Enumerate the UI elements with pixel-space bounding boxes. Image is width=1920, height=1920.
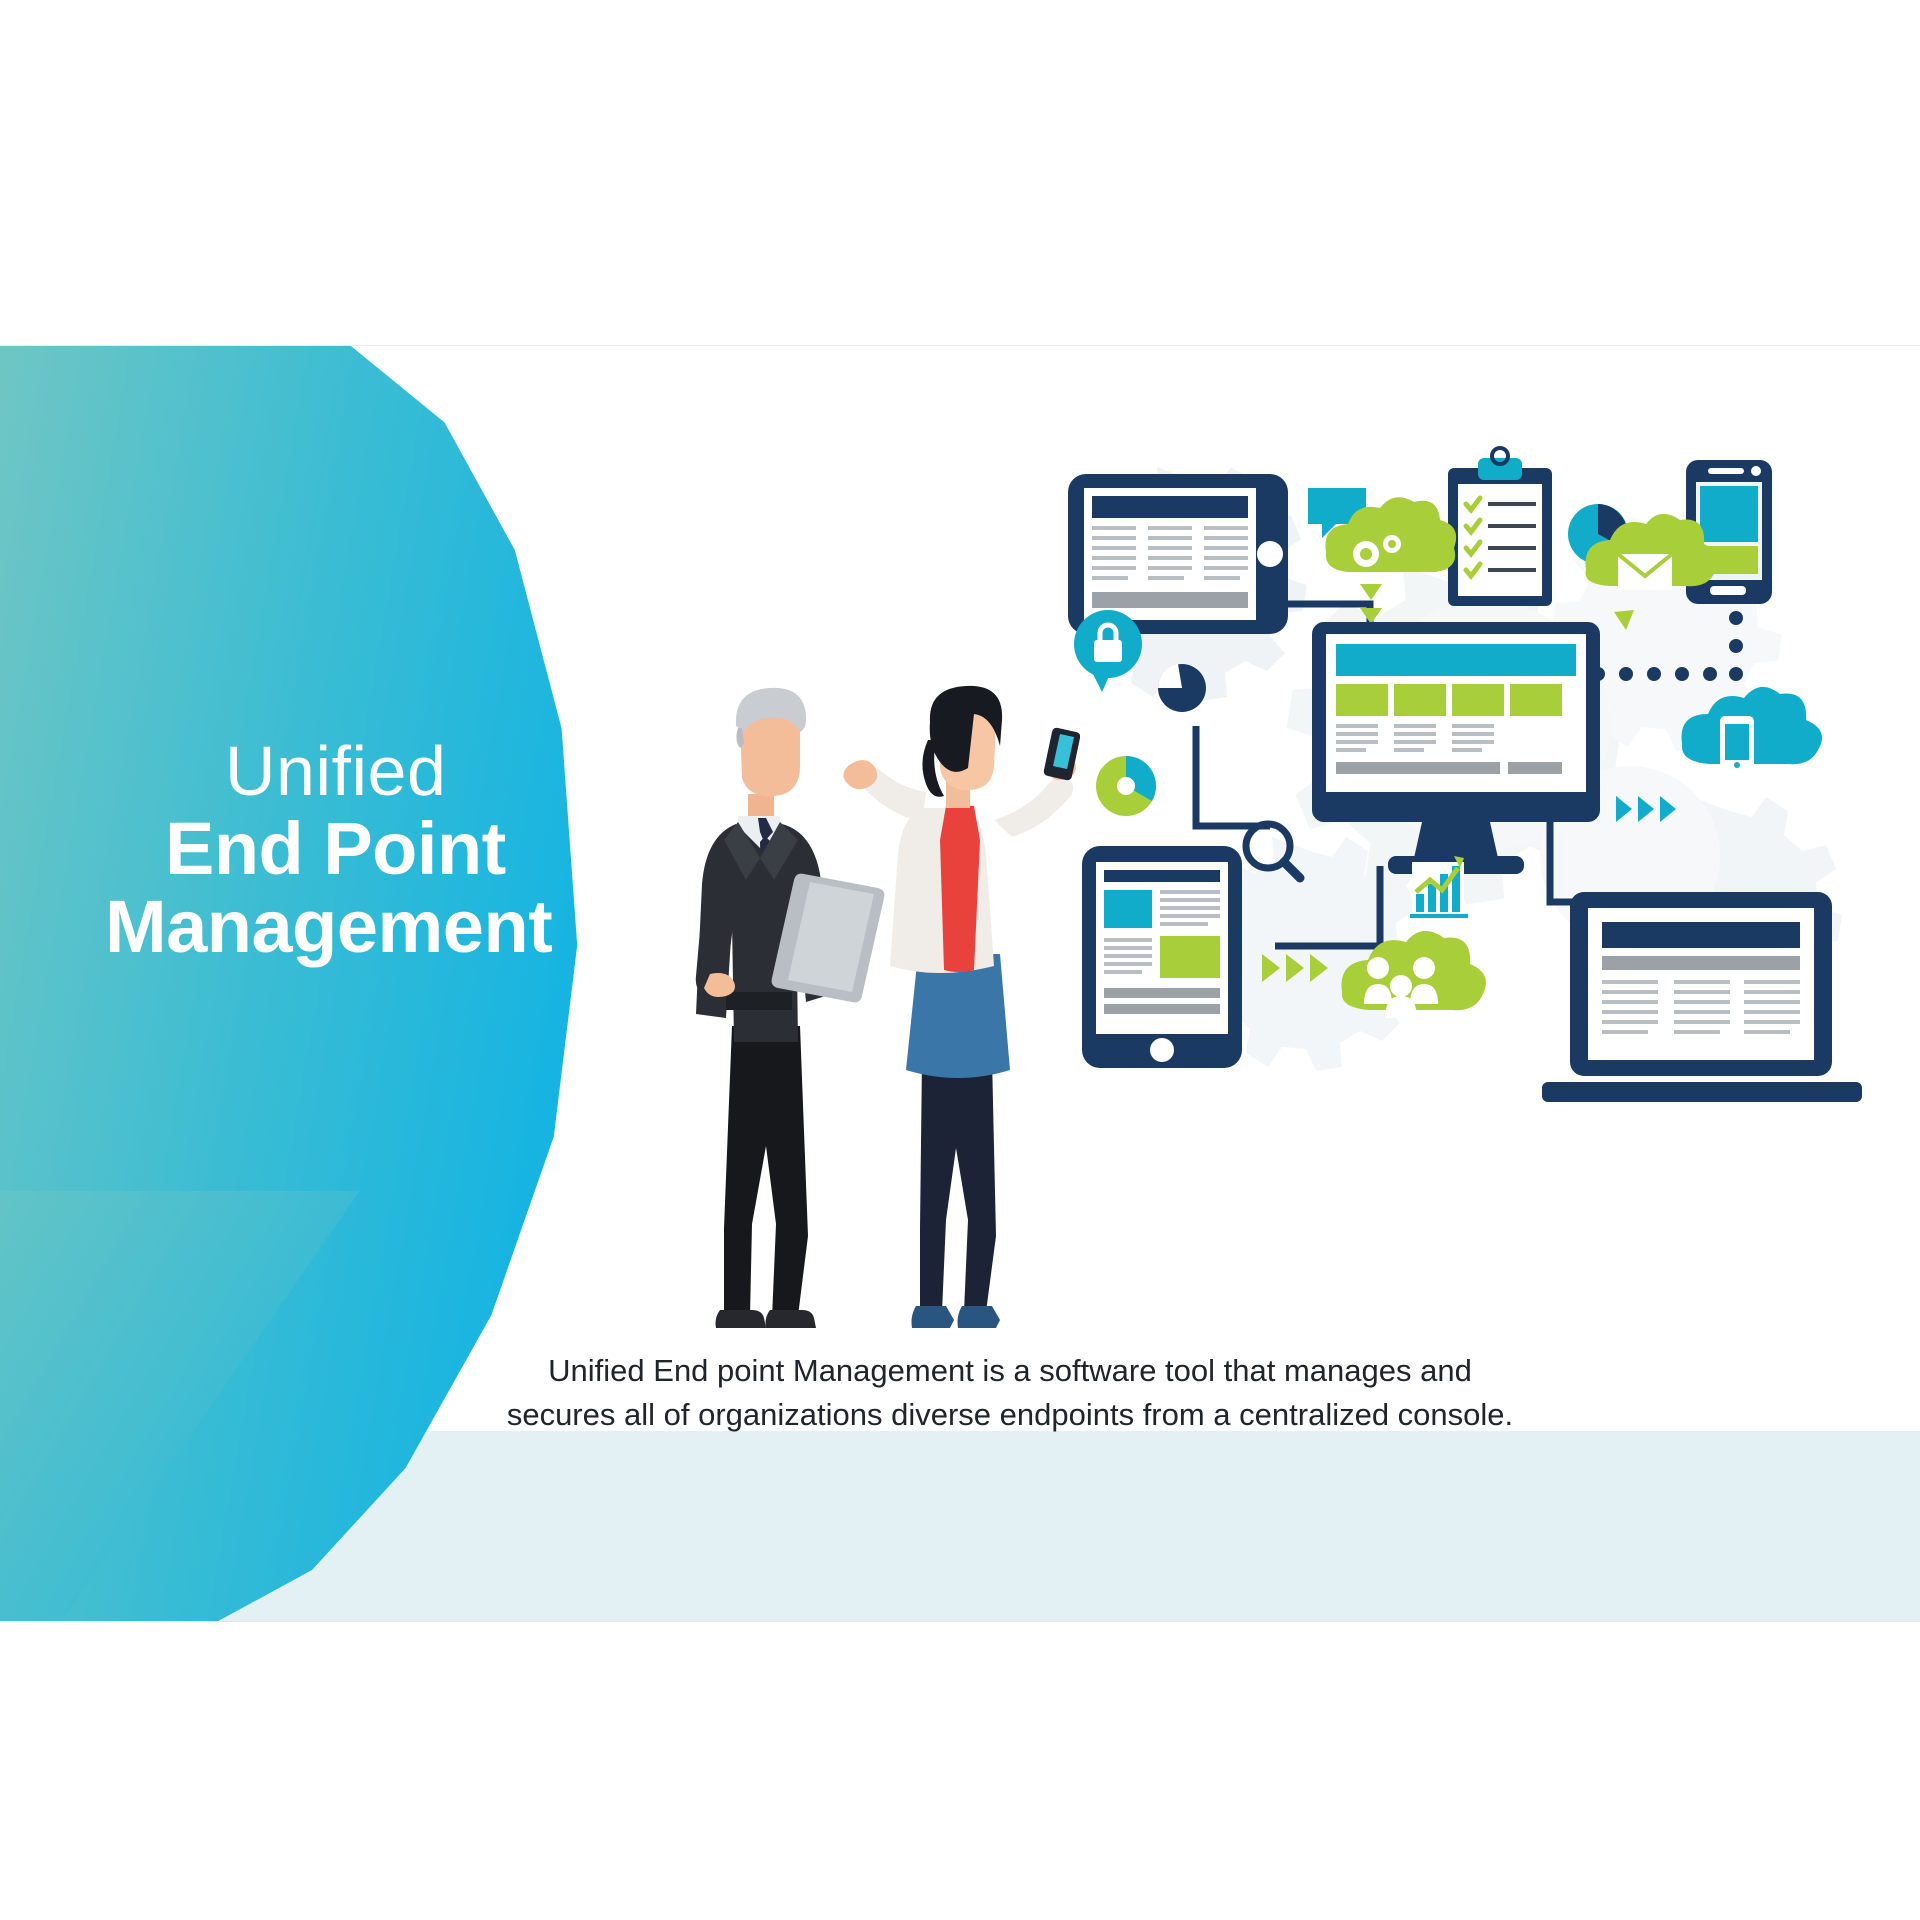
- tablet-portrait[interactable]: [1082, 846, 1242, 1068]
- title-line-management: Management: [105, 889, 725, 964]
- title-line-unified: Unified: [105, 736, 725, 807]
- magnifier-icon: [1246, 824, 1300, 878]
- bar-chart-icon: [1410, 856, 1468, 918]
- laptop[interactable]: [1542, 892, 1862, 1102]
- donut-chart-icon: [1096, 756, 1156, 816]
- tablet-landscape[interactable]: [1068, 474, 1288, 634]
- slide: Unified End Point Management Unified End…: [0, 345, 1920, 1622]
- screenshot-canvas: Unified End Point Management Unified End…: [0, 0, 1920, 1920]
- caption-line-2: secures all of organizations diverse end…: [440, 1393, 1580, 1437]
- clipboard-checklist-icon: [1448, 448, 1552, 606]
- endpoint-network-illustration: [1030, 426, 1890, 1126]
- caption-line-1: Unified End point Management is a softwa…: [440, 1349, 1580, 1393]
- page-title: Unified End Point Management: [105, 736, 725, 964]
- people-illustration: [680, 676, 1080, 1336]
- caption-text: Unified End point Management is a softwa…: [440, 1349, 1580, 1437]
- title-line-endpoint: End Point: [105, 811, 725, 886]
- pie-chart-small-icon: [1158, 664, 1206, 712]
